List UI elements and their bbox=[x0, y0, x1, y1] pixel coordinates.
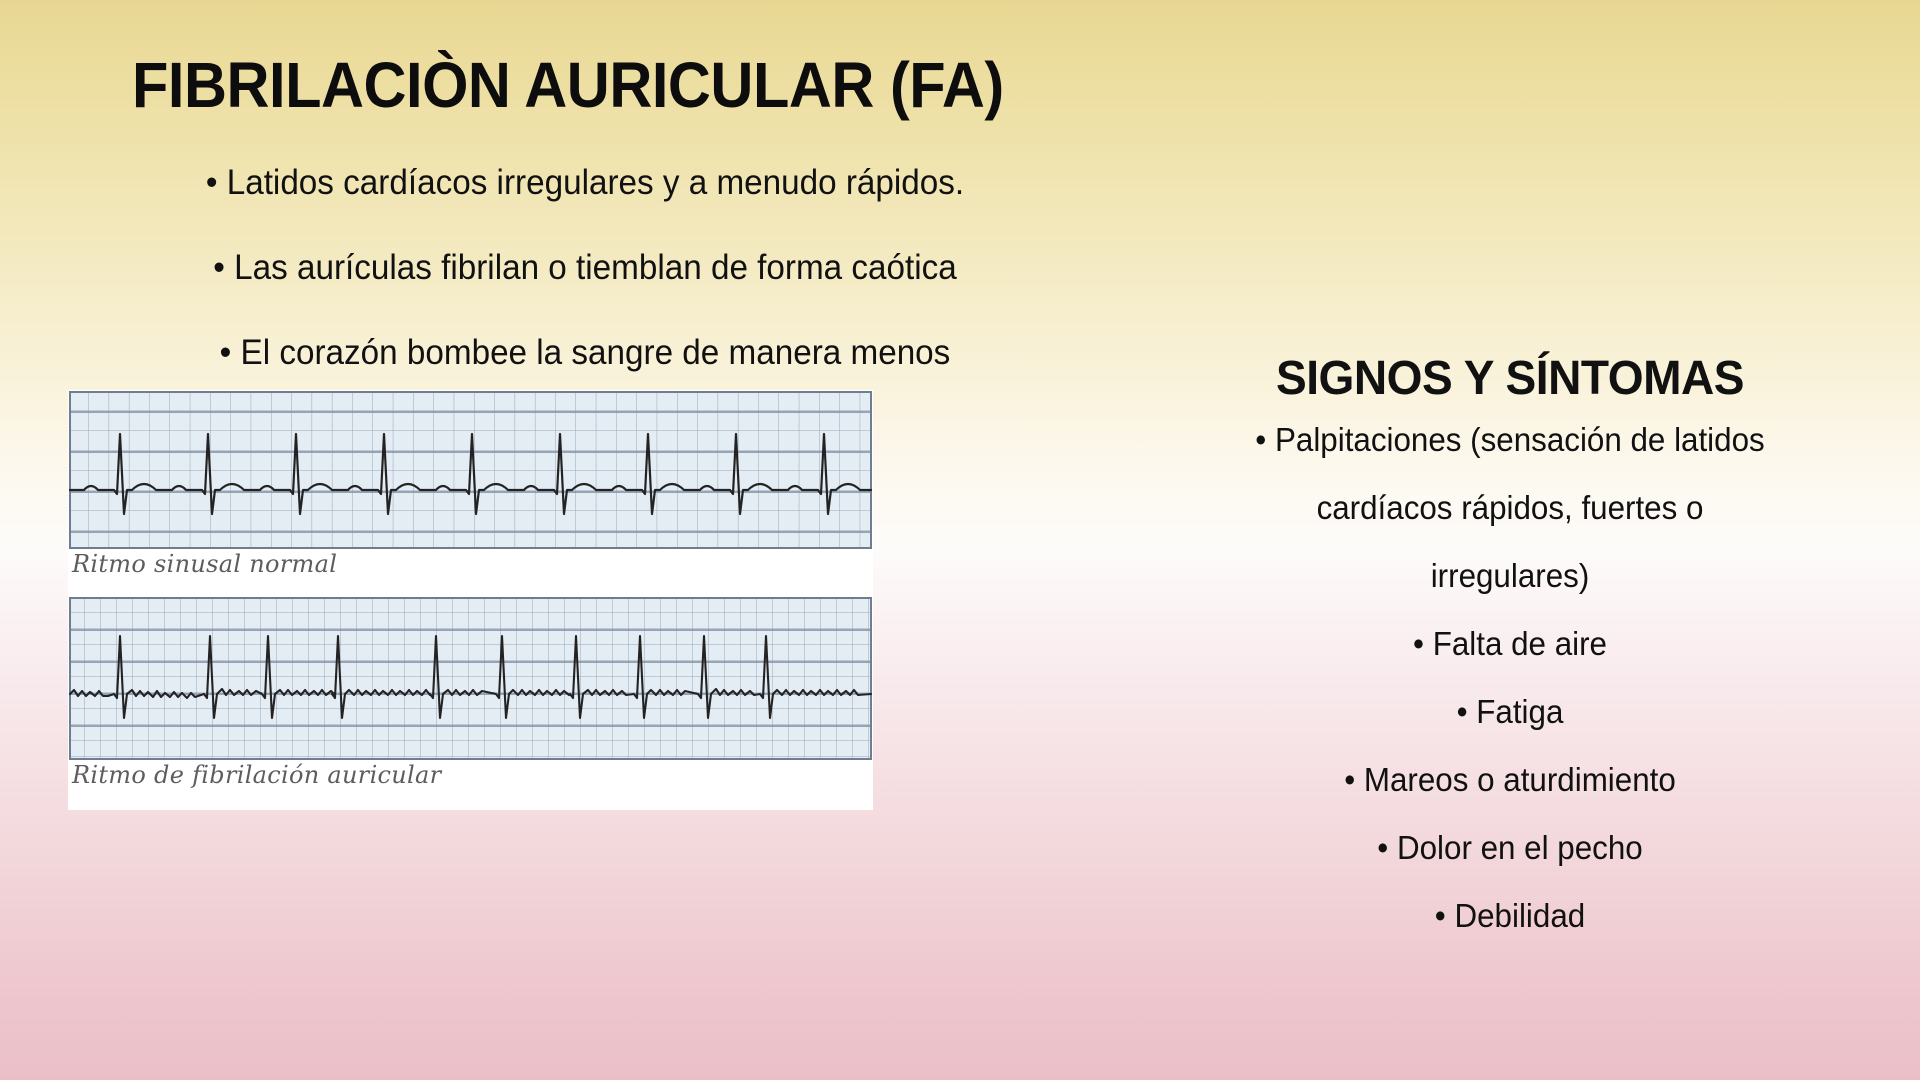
symptom-line-5: • Fatiga bbox=[1130, 678, 1890, 746]
symptom-line-4: • Falta de aire bbox=[1130, 610, 1890, 678]
ecg-trace-normal-sinus bbox=[68, 390, 873, 550]
ecg-caption-atrial-fibrillation: Ritmo de fibrilación auricular bbox=[68, 761, 873, 789]
ecg-figure: Ritmo sinusal normal bbox=[68, 390, 873, 810]
ecg-caption-normal-sinus: Ritmo sinusal normal bbox=[68, 550, 873, 578]
symptoms-heading: SIGNOS Y SÍNTOMAS bbox=[1126, 352, 1894, 406]
page-title: FIBRILACIÒN AURICULAR (FA) bbox=[132, 48, 1004, 122]
symptom-line-2: cardíacos rápidos, fuertes o bbox=[1130, 474, 1890, 542]
symptoms-panel: SIGNOS Y SÍNTOMAS • Palpitaciones (sensa… bbox=[1110, 352, 1910, 950]
symptom-line-1: • Palpitaciones (sensación de latidos bbox=[1130, 406, 1890, 474]
ecg-strip-normal-sinus: Ritmo sinusal normal bbox=[68, 390, 873, 578]
symptom-line-3: irregulares) bbox=[1130, 542, 1890, 610]
symptom-line-7: • Dolor en el pecho bbox=[1130, 814, 1890, 882]
symptom-line-6: • Mareos o aturdimiento bbox=[1130, 746, 1890, 814]
symptom-line-8: • Debilidad bbox=[1130, 882, 1890, 950]
definition-line-2: • Las aurículas fibrilan o tiemblan de f… bbox=[105, 225, 1065, 310]
definition-line-1: • Latidos cardíacos irregulares y a menu… bbox=[105, 140, 1065, 225]
ecg-trace-atrial-fibrillation bbox=[68, 596, 873, 761]
slide-root: FIBRILACIÒN AURICULAR (FA) • Latidos car… bbox=[0, 0, 1920, 1080]
ecg-strip-atrial-fibrillation: Ritmo de fibrilación auricular bbox=[68, 596, 873, 789]
definition-line-3: • El corazón bombee la sangre de manera … bbox=[105, 310, 1065, 395]
